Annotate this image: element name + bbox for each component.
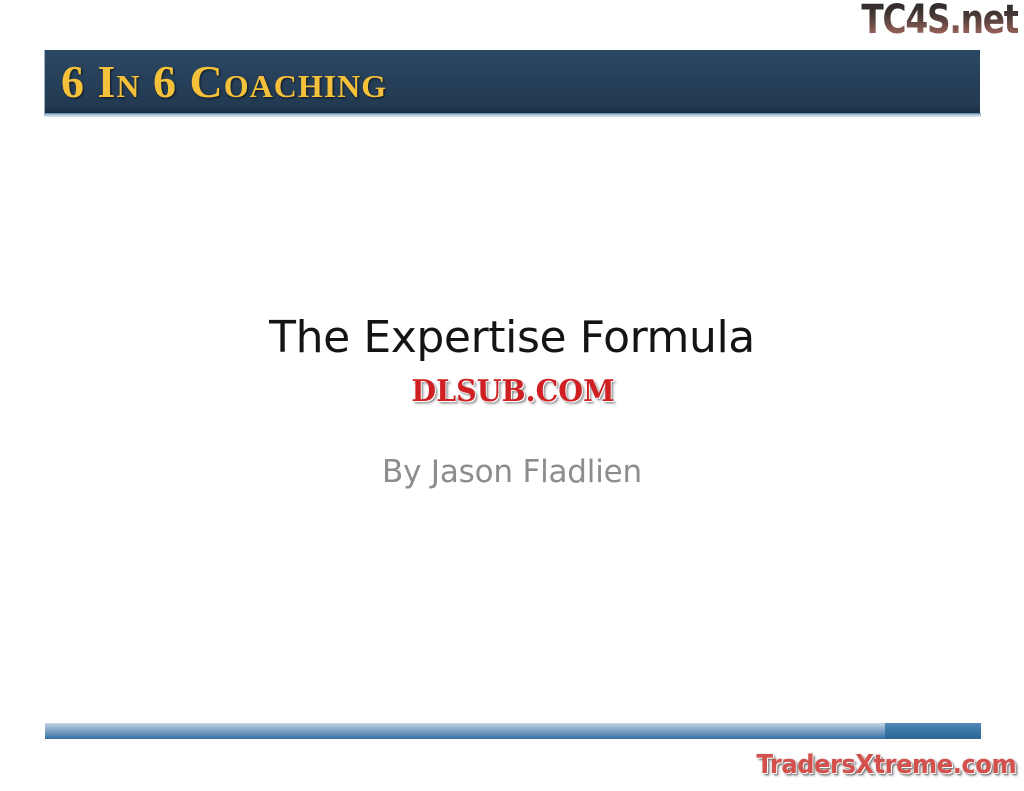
slide-title: The Expertise Formula	[0, 310, 1024, 366]
header-banner-title: 6 In 6 Coaching	[61, 53, 387, 111]
subtitle-block: By Jason Fladlien	[0, 452, 1024, 492]
footer-decorative-bar	[45, 723, 981, 739]
dlsub-watermark: DLSUB.COM	[375, 375, 651, 409]
header-banner-underline	[44, 113, 981, 117]
presentation-slide: TC4S.net 6 In 6 Coaching The Expertise F…	[0, 0, 1024, 791]
slide-subtitle: By Jason Fladlien	[0, 452, 1024, 492]
title-block: The Expertise Formula	[0, 310, 1024, 366]
tradersxtreme-watermark: TradersXtreme.com	[756, 748, 1016, 782]
tc4s-watermark: TC4S.net	[861, 0, 1018, 42]
header-banner: 6 In 6 Coaching	[44, 50, 980, 115]
footer-decorative-bar-right-segment	[885, 723, 981, 739]
